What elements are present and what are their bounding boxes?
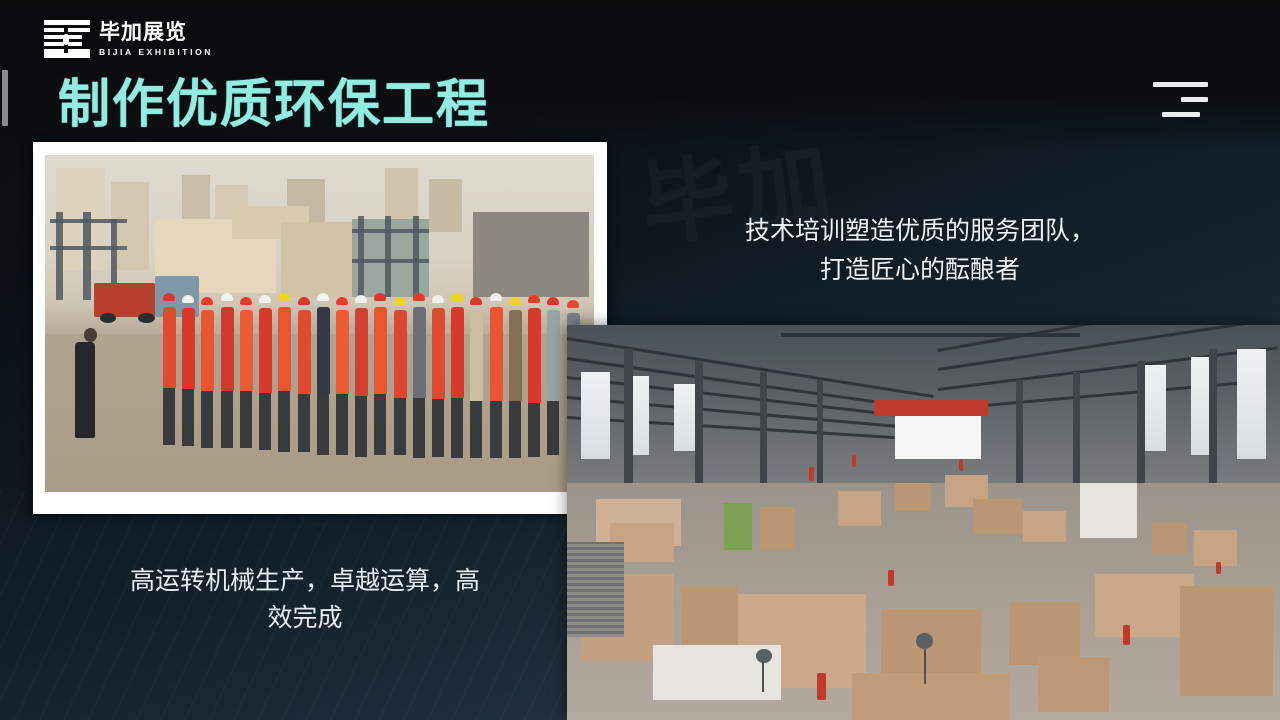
factory-worker [888,570,894,586]
hamburger-menu-icon[interactable] [1153,82,1208,120]
hamburger-line-bottom [1162,112,1200,117]
factory-worker [959,459,963,471]
factory-worker [1123,625,1130,645]
bottom-caption-line1: 高运转机械生产，卓越运算，高 [60,562,550,599]
right-caption: 技术培训塑造优质的服务团队， 打造匠心的酝酿者 [620,212,1220,290]
bottom-caption-line2: 效完成 [60,599,550,636]
factory-workshop-photo[interactable] [567,325,1280,720]
instructor-head [84,328,97,342]
hamburger-line-middle [1181,97,1208,102]
factory-worker [809,467,814,481]
instructor-body [75,342,95,438]
factory-worker [817,673,826,701]
right-caption-line2: 打造匠心的酝酿者 [620,251,1220,290]
construction-workers-photo[interactable] [33,142,607,514]
brand-name-en: BIJIA EXHIBITION [99,47,213,57]
presentation-slide: 毕加 毕加展览 BIJIA EXHIBITION 制作优质环保工程 [0,0,1280,720]
scrollbar-thumb[interactable] [2,70,8,126]
brand-logo[interactable]: 毕加展览 BIJIA EXHIBITION [44,20,213,58]
be-monogram-icon [44,20,90,58]
right-caption-line1: 技术培训塑造优质的服务团队， [620,212,1220,251]
bottom-caption: 高运转机械生产，卓越运算，高 效完成 [60,562,550,636]
red-banner [874,400,988,416]
photo-inner [45,155,594,492]
page-title: 制作优质环保工程 [58,79,490,131]
hamburger-line-top [1153,82,1208,87]
factory-worker [852,455,856,467]
brand-name-cn: 毕加展览 [99,21,213,43]
factory-worker [1216,562,1221,574]
